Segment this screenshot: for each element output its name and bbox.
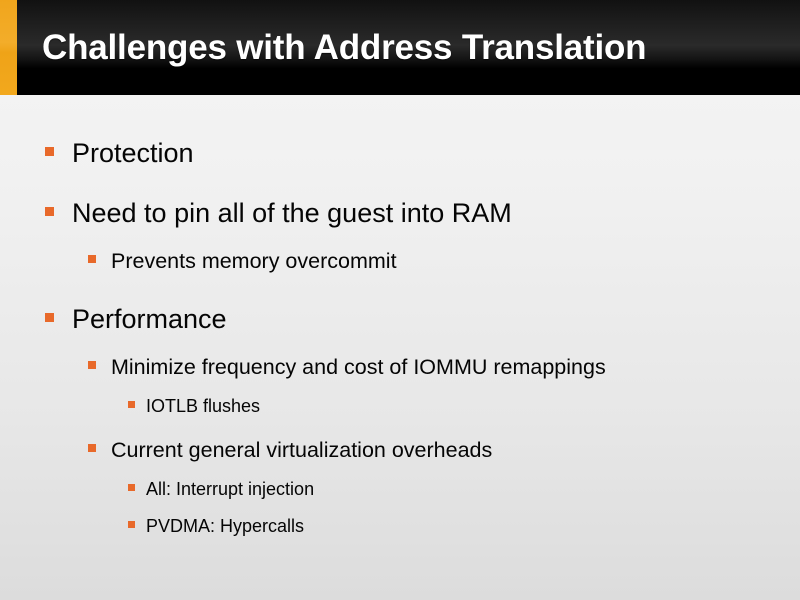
bullet-item-level1: Protection — [0, 138, 800, 168]
title-accent-bar — [0, 0, 17, 95]
bullet-marker-icon — [88, 255, 96, 263]
bullet-marker-icon — [88, 444, 96, 452]
bullet-item-level2: Prevents memory overcommit — [0, 249, 800, 274]
bullet-text: Minimize frequency and cost of IOMMU rem… — [111, 355, 606, 380]
bullet-item-level1: Performance — [0, 304, 800, 334]
bullet-marker-icon — [45, 207, 54, 216]
bullet-item-level2: Minimize frequency and cost of IOMMU rem… — [0, 355, 800, 380]
bullet-item-level3: PVDMA: Hypercalls — [0, 516, 800, 537]
bullet-text: Need to pin all of the guest into RAM — [72, 198, 512, 228]
bullet-item-level3: All: Interrupt injection — [0, 479, 800, 500]
bullet-marker-icon — [88, 361, 96, 369]
bullet-marker-icon — [128, 484, 135, 491]
presentation-slide: Challenges with Address Translation Prot… — [0, 0, 800, 600]
bullet-text: All: Interrupt injection — [146, 479, 314, 500]
slide-title-bar: Challenges with Address Translation — [0, 0, 800, 95]
slide-body: Protection Need to pin all of the guest … — [0, 95, 800, 600]
bullet-text: Current general virtualization overheads — [111, 438, 492, 463]
bullet-item-level3: IOTLB flushes — [0, 396, 800, 417]
bullet-item-level2: Current general virtualization overheads — [0, 438, 800, 463]
bullet-text: Performance — [72, 304, 227, 334]
bullet-text: Prevents memory overcommit — [111, 249, 397, 274]
bullet-text: IOTLB flushes — [146, 396, 260, 417]
bullet-marker-icon — [45, 147, 54, 156]
slide-title: Challenges with Address Translation — [42, 0, 782, 95]
bullet-item-level1: Need to pin all of the guest into RAM — [0, 198, 800, 228]
bullet-text: Protection — [72, 138, 194, 168]
bullet-text: PVDMA: Hypercalls — [146, 516, 304, 537]
bullet-marker-icon — [45, 313, 54, 322]
bullet-marker-icon — [128, 401, 135, 408]
bullet-marker-icon — [128, 521, 135, 528]
